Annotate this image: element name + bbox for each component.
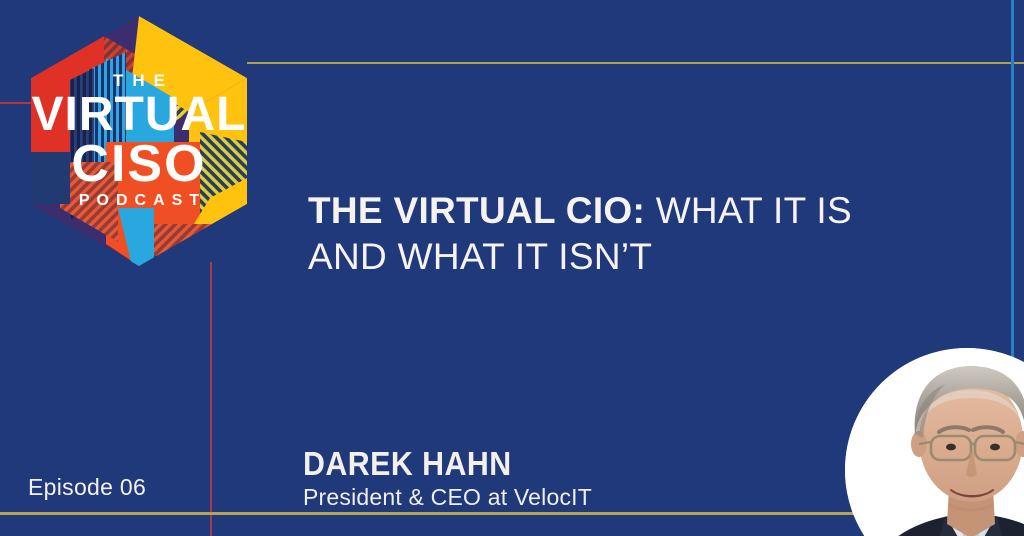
blue-rule-vertical	[1011, 0, 1014, 392]
gold-rule-top	[247, 62, 1024, 64]
virtual-ciso-podcast-logo: THE VIRTUAL CISO PODCAST	[14, 12, 264, 270]
episode-title-strong: THE VIRTUAL CIO:	[308, 190, 645, 231]
speaker-name: DAREK HAHN	[303, 447, 569, 481]
speaker-headshot-avatar	[845, 348, 1024, 536]
episode-title-line-2: AND WHAT IT ISN’T	[308, 234, 948, 280]
red-rule-vertical	[210, 262, 212, 536]
speaker-block: DAREK HAHN President & CEO at VelocIT	[303, 447, 592, 511]
podcast-episode-cover: THE VIRTUAL CISO PODCAST THE VIRTUAL CIO…	[0, 0, 1024, 536]
episode-title-light: WHAT IT IS	[645, 190, 852, 231]
episode-title-line-1: THE VIRTUAL CIO: WHAT IT IS	[308, 188, 948, 234]
episode-title: THE VIRTUAL CIO: WHAT IT IS AND WHAT IT …	[308, 188, 948, 280]
episode-number-label: Episode 06	[28, 474, 146, 501]
speaker-role: President & CEO at VelocIT	[303, 483, 592, 511]
